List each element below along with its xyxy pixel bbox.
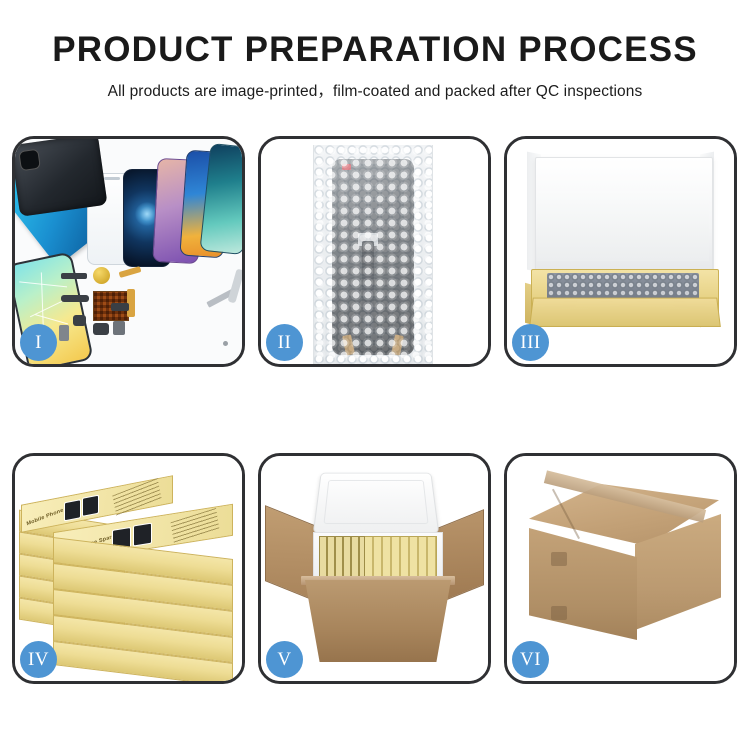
part-speaker — [93, 323, 109, 335]
part-antenna-strip — [61, 273, 87, 279]
part-flex-cable-1 — [119, 266, 142, 278]
part-battery-connector — [111, 303, 129, 311]
lcd-red-marker — [342, 164, 351, 170]
step-badge-2: II — [266, 324, 303, 361]
box-tray-front — [529, 298, 721, 327]
step-badge-1: I — [20, 324, 57, 361]
step-panel-1: I — [12, 136, 245, 367]
tool-screws — [223, 341, 228, 346]
part-vibrator — [113, 321, 125, 335]
foam-band — [537, 191, 709, 261]
steps-grid: I II — [12, 136, 738, 684]
step-panel-3: III — [504, 136, 737, 367]
step-badge-4: IV — [20, 641, 57, 678]
part-camera-module — [73, 315, 86, 326]
step-badge-5: V — [266, 641, 303, 678]
box-screen-art-a2 — [82, 495, 99, 517]
lcd-flex-cable — [362, 241, 374, 341]
header: PRODUCT PREPARATION PROCESS All products… — [0, 0, 750, 101]
page-subtitle: All products are image-printed，film-coat… — [0, 79, 750, 101]
step-panel-6: VI — [504, 453, 737, 684]
tool-screwdriver — [227, 269, 242, 304]
carton-front-face — [529, 528, 637, 640]
carton-body — [305, 580, 451, 662]
box-screen-art-b2 — [133, 523, 152, 547]
box-screen-art-a1 — [64, 499, 81, 521]
page-title: PRODUCT PREPARATION PROCESS — [0, 32, 750, 67]
step-panel-2: II — [258, 136, 491, 367]
part-button-flex — [61, 295, 89, 302]
phone-back-housing-dark — [15, 139, 108, 217]
carton-handle-tab-upper — [551, 552, 567, 566]
infographic-page: PRODUCT PREPARATION PROCESS All products… — [0, 0, 750, 750]
lcd-assembly — [332, 159, 414, 355]
step-badge-6: VI — [512, 641, 549, 678]
step-panel-5: V — [258, 453, 491, 684]
foam-lid — [313, 473, 439, 534]
box-stack: Mobile Phone Spare Parts Mobile Phone Sp… — [19, 474, 242, 670]
carton-handle-tab-lower — [551, 606, 567, 620]
wireless-charging-coil — [93, 267, 110, 284]
part-sim-tray — [59, 325, 69, 341]
packed-boxes-left-group — [319, 536, 365, 580]
step-panel-4: Mobile Phone Spare Parts Mobile Phone Sp… — [12, 453, 245, 684]
bubble-wrap-sleeve — [313, 145, 433, 364]
step-badge-3: III — [512, 324, 549, 361]
